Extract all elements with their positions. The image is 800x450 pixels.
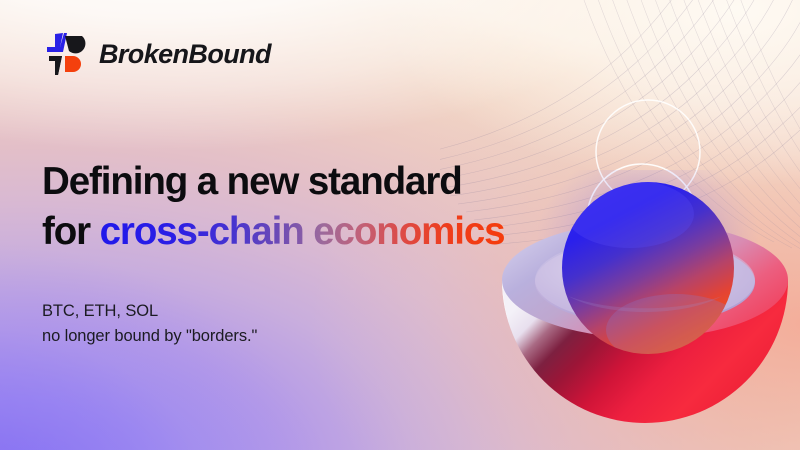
subtitle-line-2: no longer bound by "borders." <box>42 324 257 349</box>
headline-line-2: for cross-chain economics <box>42 207 582 257</box>
subtitle-line-1: BTC, ETH, SOL <box>42 299 257 324</box>
brokenbound-logo-mark-icon <box>42 30 88 78</box>
hero-headline: Defining a new standard for cross-chain … <box>42 157 582 257</box>
brand-name: BrokenBound <box>99 39 271 70</box>
brand-logo[interactable]: BrokenBound <box>42 30 271 78</box>
headline-gradient-text: cross-chain economics <box>100 210 505 253</box>
headline-line-2-prefix: for <box>42 210 100 253</box>
hero-banner: BrokenBound Defining a new standard for … <box>0 0 800 450</box>
headline-line-1: Defining a new standard <box>42 157 582 207</box>
hero-subtitle: BTC, ETH, SOL no longer bound by "border… <box>42 299 257 349</box>
